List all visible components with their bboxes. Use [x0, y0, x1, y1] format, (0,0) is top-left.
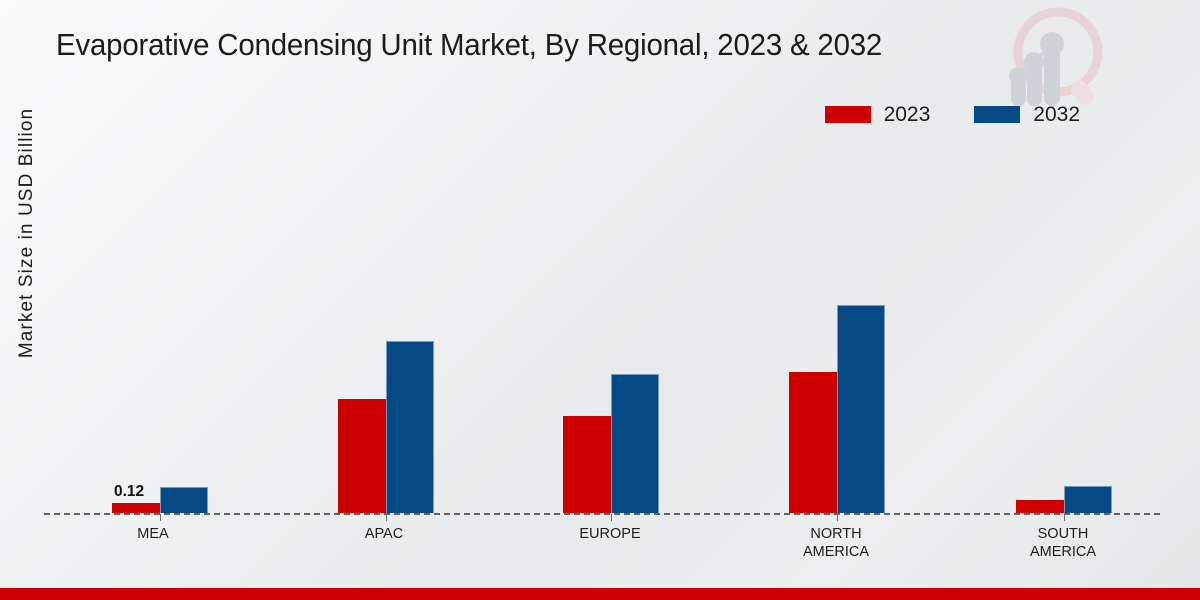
x-label-north-america: NORTH AMERICA	[803, 525, 869, 561]
bar-group-mea: 0.12	[112, 73, 212, 513]
bar-group-south-america	[1016, 73, 1116, 513]
bars-apac	[338, 341, 434, 513]
x-axis-baseline	[44, 513, 1160, 515]
x-label-mea: MEA	[137, 525, 168, 543]
bar-group-north-america	[789, 73, 889, 513]
x-tick-apac	[386, 514, 387, 521]
bar-north-america-2023[interactable]	[789, 372, 837, 513]
bar-apac-2032[interactable]	[386, 341, 434, 513]
bar-europe-2032[interactable]	[611, 374, 659, 513]
bars-north-america	[789, 305, 885, 513]
bar-europe-2023[interactable]	[563, 416, 611, 513]
plot-area: 0.12	[0, 0, 1200, 600]
x-label-europe: EUROPE	[579, 525, 640, 543]
x-label-south-america: SOUTH AMERICA	[1030, 525, 1096, 561]
x-tick-europe	[611, 514, 612, 521]
bars-south-america	[1016, 486, 1112, 513]
x-tick-north-america	[837, 514, 838, 521]
bar-south-america-2032[interactable]	[1064, 486, 1112, 513]
bar-value-mea-2023: 0.12	[114, 483, 144, 501]
bar-north-america-2032[interactable]	[837, 305, 885, 513]
bottom-accent-band	[0, 588, 1200, 600]
bar-group-europe	[563, 73, 663, 513]
x-tick-south-america	[1064, 514, 1065, 521]
bar-group-apac	[338, 73, 438, 513]
bar-mea-2032[interactable]	[160, 487, 208, 513]
x-tick-mea	[160, 514, 161, 521]
bar-apac-2023[interactable]	[338, 399, 386, 513]
chart-page: Evaporative Condensing Unit Market, By R…	[0, 0, 1200, 600]
bar-south-america-2023[interactable]	[1016, 500, 1064, 513]
bar-mea-2023[interactable]	[112, 503, 160, 513]
x-label-apac: APAC	[365, 525, 403, 543]
bars-europe	[563, 374, 659, 513]
